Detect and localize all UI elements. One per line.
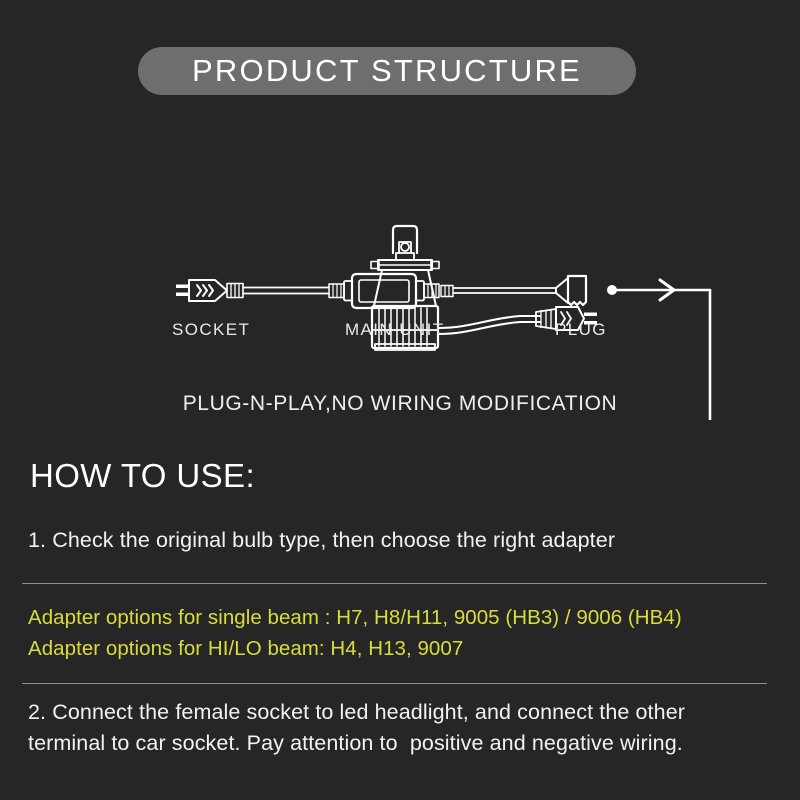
plug-n-play-tagline: PLUG-N-PLAY,NO WIRING MODIFICATION [0,392,800,416]
how-to-use-heading: HOW TO USE: [30,457,255,495]
arrow-right-icon [607,280,710,300]
plug-connector-icon [556,276,586,305]
socket-connector-icon [176,280,243,301]
diagram-label-main-unit: MAIN UNIT [345,320,444,340]
page-title-pill: PRODUCT STRUCTURE [138,47,636,95]
cable-main-unit-to-plug [453,288,556,293]
how-to-use-step-1: 1. Check the original bulb type, then ch… [28,525,615,556]
diagram-svg [0,120,800,420]
diagram-label-plug: PLUG [555,320,607,340]
how-to-use-step-2: 2. Connect the female socket to led head… [28,697,685,759]
page-title: PRODUCT STRUCTURE [192,53,582,89]
bulb-cable [438,316,540,334]
adapter-options-single-beam: Adapter options for single beam : H7, H8… [28,606,682,630]
adapter-options-hilo-beam: Adapter options for HI/LO beam: H4, H13,… [28,637,463,661]
how-to-use-step-2-line-2: terminal to car socket. Pay attention to… [28,731,683,755]
product-structure-infographic: PRODUCT STRUCTURE [0,0,800,800]
section-divider-bottom [22,683,767,684]
section-divider-top [22,583,767,584]
cable-socket-to-main-unit [243,288,329,294]
diagram-label-socket: SOCKET [172,320,250,340]
product-structure-diagram: SOCKET MAIN UNIT PLUG [0,120,800,420]
how-to-use-step-2-line-1: 2. Connect the female socket to led head… [28,700,685,724]
